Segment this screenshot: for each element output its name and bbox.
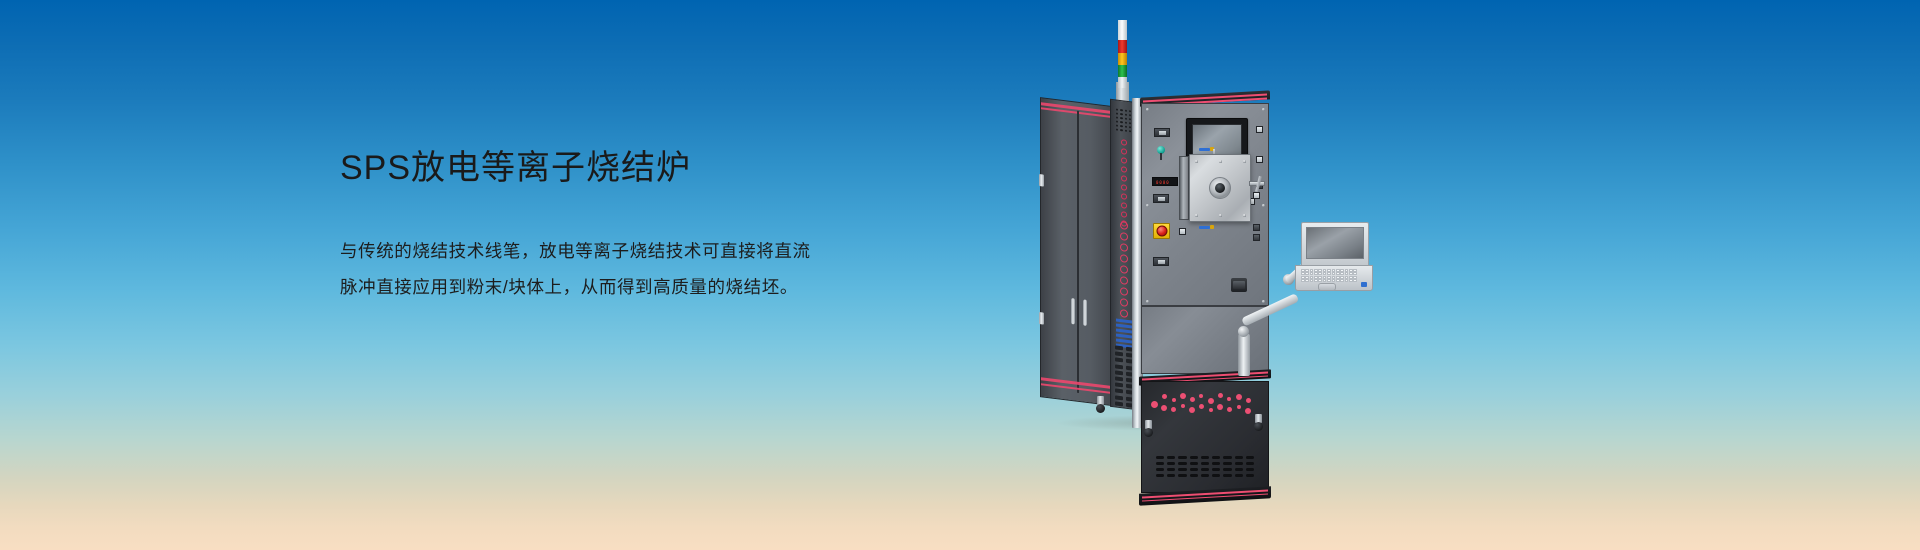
hero-banner: SPS放电等离子烧结炉 与传统的烧结技术线笔，放电等离子烧结技术可直接将直流 脉… bbox=[0, 0, 1920, 550]
caster-rear-left bbox=[1096, 396, 1105, 414]
chamber-screw bbox=[1243, 214, 1246, 217]
cabinet-door-seam bbox=[1077, 111, 1079, 393]
control-laptop[interactable] bbox=[1295, 222, 1373, 294]
panel-screw bbox=[1146, 108, 1149, 111]
lower-vent-slots bbox=[1115, 345, 1133, 407]
emergency-stop-cap[interactable] bbox=[1156, 226, 1167, 237]
arm-vertical-column bbox=[1238, 334, 1250, 376]
chamber-screw bbox=[1243, 160, 1246, 163]
panel-screw bbox=[1262, 204, 1265, 207]
knob-stem bbox=[1160, 153, 1162, 160]
laptop-screen[interactable] bbox=[1306, 227, 1364, 259]
power-selector-switch[interactable] bbox=[1154, 128, 1170, 137]
signal-tower-red-lamp bbox=[1118, 40, 1127, 53]
chamber-screw bbox=[1219, 214, 1222, 217]
chamber-viewport-icon bbox=[1209, 177, 1231, 199]
laptop-trackpad[interactable] bbox=[1318, 283, 1336, 291]
product-machine-image: 0000 bbox=[1040, 20, 1290, 440]
laptop-lid bbox=[1301, 222, 1369, 266]
blue-pipe-upper bbox=[1199, 148, 1210, 151]
arm-clamp-block bbox=[1231, 278, 1247, 292]
caster-front-left bbox=[1144, 420, 1153, 438]
vent-grid-icon bbox=[1116, 109, 1132, 133]
cabinet-door-handle-right[interactable] bbox=[1083, 299, 1087, 325]
signal-tower-top-cap bbox=[1118, 20, 1127, 40]
laptop-keyboard[interactable] bbox=[1301, 269, 1357, 282]
emergency-stop-button[interactable] bbox=[1153, 223, 1170, 239]
laptop-badge-icon bbox=[1361, 282, 1367, 287]
vacuum-selector-switch[interactable] bbox=[1153, 257, 1169, 266]
panel-screw bbox=[1262, 108, 1265, 111]
mode-selector-switch[interactable] bbox=[1153, 194, 1169, 203]
lower-black-panel bbox=[1141, 381, 1269, 493]
chamber-screw bbox=[1195, 214, 1198, 217]
laptop-base bbox=[1295, 265, 1373, 291]
aux-button-3[interactable] bbox=[1253, 192, 1260, 199]
readout-value: 0000 bbox=[1156, 180, 1170, 185]
cabinet-hinge-upper bbox=[1039, 174, 1044, 187]
banner-text-block: SPS放电等离子烧结炉 与传统的烧结技术线笔，放电等离子烧结技术可直接将直流 脉… bbox=[340, 140, 900, 305]
chamber-screw bbox=[1219, 160, 1222, 163]
blue-indicator-bars bbox=[1116, 319, 1132, 349]
monitor-support-arm bbox=[1245, 230, 1365, 370]
indicator-button-lamp[interactable] bbox=[1256, 126, 1263, 133]
indicator-dots-lower bbox=[1116, 221, 1132, 319]
signal-tower-base bbox=[1118, 77, 1127, 88]
chamber-door-hinge bbox=[1179, 156, 1189, 220]
start-button[interactable] bbox=[1179, 228, 1186, 235]
blue-pipe-lower bbox=[1199, 226, 1210, 229]
decorative-dot-array bbox=[1151, 392, 1259, 418]
hexagonal-vent-grille bbox=[1156, 456, 1254, 478]
panel-screw bbox=[1146, 300, 1149, 303]
page-title: SPS放电等离子烧结炉 bbox=[340, 140, 900, 189]
cabinet-door-handle-left[interactable] bbox=[1071, 298, 1075, 324]
signal-tower-green-lamp bbox=[1118, 65, 1127, 77]
description-line-1: 与传统的烧结技术线笔，放电等离子烧结技术可直接将直流 bbox=[340, 233, 900, 269]
chamber-screw bbox=[1195, 160, 1198, 163]
side-cabinet bbox=[1040, 97, 1112, 406]
caster-front-right bbox=[1254, 414, 1263, 432]
vacuum-chamber-door[interactable] bbox=[1189, 154, 1251, 222]
signal-tower-yellow-lamp bbox=[1118, 53, 1127, 65]
chamber-latch-handle[interactable] bbox=[1249, 176, 1263, 192]
indicator-button-heat[interactable] bbox=[1256, 156, 1263, 163]
yellow-valve-lower bbox=[1210, 225, 1214, 229]
digital-readout: 0000 bbox=[1152, 177, 1178, 186]
cabinet-hinge-lower bbox=[1039, 312, 1044, 325]
description-line-2: 脉冲直接应用到粉末/块体上，从而得到高质量的烧结坯。 bbox=[340, 269, 900, 305]
indicator-dots-upper bbox=[1116, 139, 1132, 228]
panel-screw bbox=[1146, 204, 1149, 207]
arm-joint-lower bbox=[1238, 326, 1249, 337]
arm-segment-lower bbox=[1241, 293, 1299, 327]
signal-tower-icon bbox=[1118, 20, 1127, 88]
